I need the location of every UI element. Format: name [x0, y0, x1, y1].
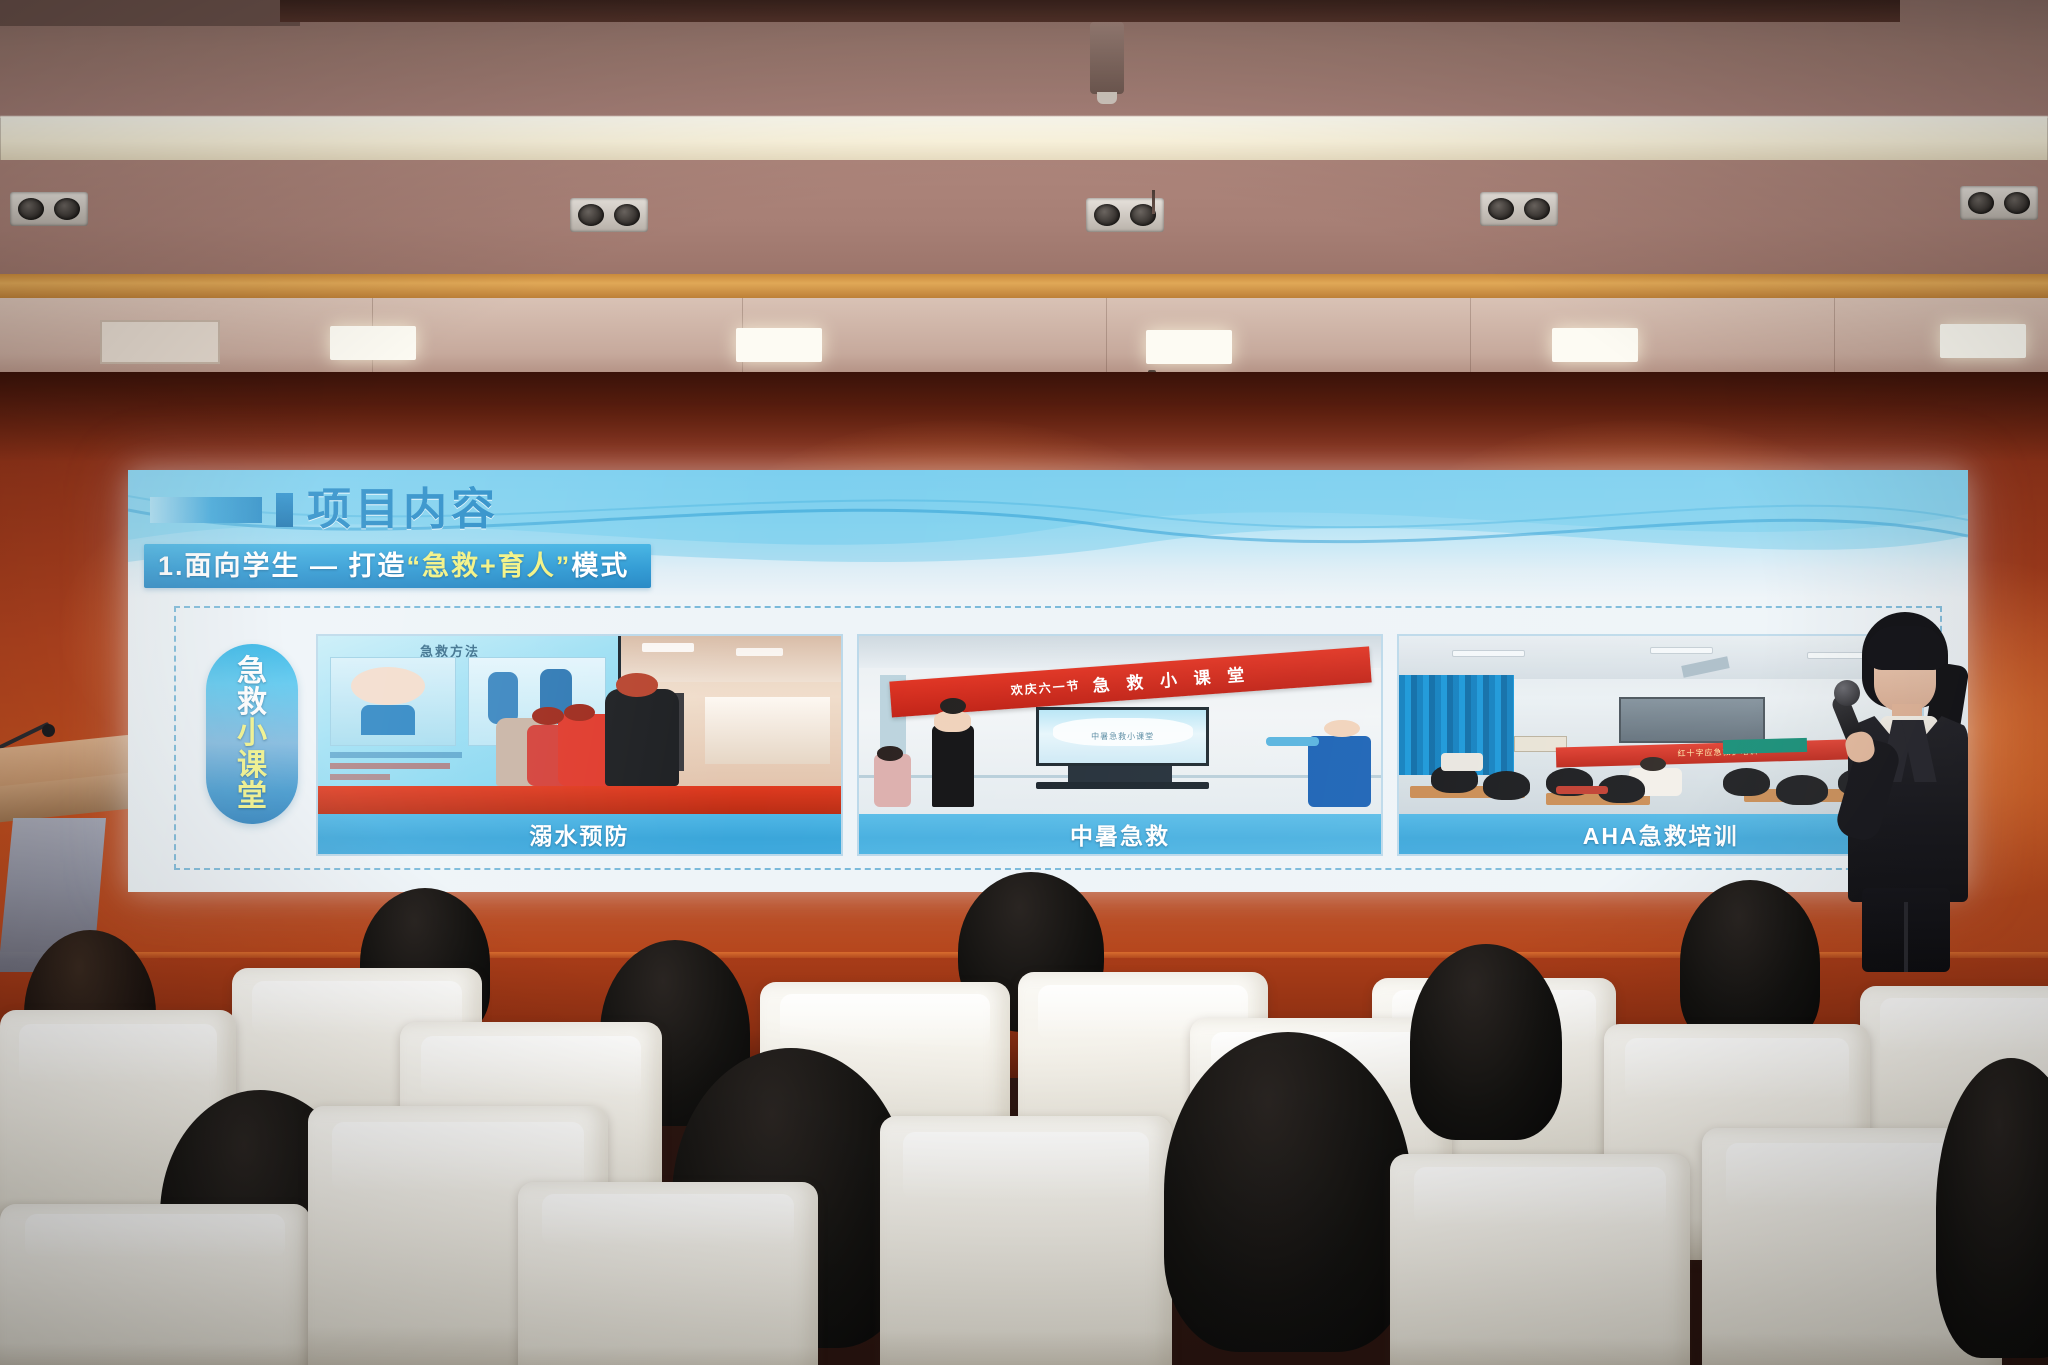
p3-ceiling-light	[1452, 650, 1525, 657]
presenter-leg-gap	[1904, 902, 1908, 972]
p3-green-board	[1723, 738, 1807, 755]
p1-screen-text-line	[330, 774, 390, 780]
audience-head	[1410, 944, 1562, 1140]
p3-student-head	[1723, 768, 1770, 796]
audience-head	[1164, 1032, 1412, 1352]
photo-image-heatstroke-firstaid: 欢庆六一节 急 救 小 课 堂 中暑急救小课堂	[859, 636, 1382, 814]
ceiling-lower-panels	[0, 298, 2048, 378]
ceiling-recessed-band	[280, 0, 1900, 22]
ceiling-cable	[1152, 190, 1155, 214]
p1-ceiling-light	[736, 648, 783, 655]
side-label-char: 救	[237, 687, 267, 718]
slide-title-row: 项目内容	[150, 488, 499, 532]
lecture-hall-scene: 项目内容 1.面向学生 — 打造 “急救+育人” 模式 急 救 小 课 堂	[0, 0, 2048, 1365]
spotlight-icon	[1480, 192, 1558, 226]
photo-caption: 溺水预防	[318, 814, 841, 854]
p3-student-body	[1441, 753, 1483, 771]
ceiling-downlight	[736, 328, 822, 362]
p2-banner-right-text: 急 救 小 课 堂	[1092, 661, 1251, 697]
p2-banner-left-text: 欢庆六一节	[1010, 677, 1081, 699]
side-label-char: 急	[237, 656, 267, 687]
p2-tv-text: 中暑急救小课堂	[1039, 731, 1205, 742]
page-title: 项目内容	[307, 488, 499, 532]
p2-tv-display: 中暑急救小课堂	[1036, 707, 1208, 766]
p1-screen-text-line	[330, 752, 462, 758]
p3-ceiling-light	[1650, 647, 1713, 654]
p3-student-head	[1483, 771, 1530, 799]
p1-red-carpet	[318, 786, 841, 814]
wall-top-shadow	[0, 372, 2048, 462]
p1-illustration-body	[361, 705, 416, 735]
spotlight-icon	[10, 192, 88, 226]
p2-tv-stand	[1068, 766, 1173, 782]
audience-chair	[518, 1182, 818, 1365]
audience-chair	[880, 1116, 1172, 1365]
p2-person-head	[877, 746, 903, 760]
ceiling-middle-surface	[0, 160, 2048, 278]
photo-card: 急救方法	[316, 634, 843, 856]
side-label-char: 小	[237, 718, 267, 749]
cove-light-strip	[0, 116, 2048, 162]
ceiling-panel-seam	[1470, 298, 1471, 378]
p1-screen-text-line	[330, 763, 450, 769]
ceiling-projector-icon	[1090, 22, 1124, 94]
subtitle-part-3: 模式	[571, 553, 629, 580]
ceiling-corner-left	[0, 0, 300, 26]
audience-chair	[0, 1204, 310, 1365]
p2-person-standing	[932, 725, 974, 807]
p1-illustration-figure	[351, 667, 425, 705]
p1-ceiling-light	[642, 643, 694, 652]
side-label-char: 课	[237, 750, 267, 781]
p2-tv-base	[1036, 782, 1208, 789]
p2-person-seated	[874, 754, 911, 807]
p1-child-head	[532, 707, 563, 725]
ceiling-downlight	[330, 326, 416, 360]
ceiling-downlight	[1552, 328, 1638, 362]
p2-equipment	[1266, 737, 1318, 746]
microphone-head-icon	[42, 724, 55, 737]
p1-window	[705, 697, 830, 765]
side-label-char: 堂	[237, 781, 267, 812]
p1-instructor	[605, 689, 678, 785]
ceiling-panel-seam	[1106, 298, 1107, 378]
slide-subtitle-banner: 1.面向学生 — 打造 “急救+育人” 模式	[144, 544, 651, 588]
audience-chair	[1390, 1154, 1690, 1365]
slide-content-frame: 急 救 小 课 堂 急救方法	[174, 606, 1942, 870]
ceiling-air-vent	[100, 320, 220, 364]
ceiling-downlight	[1940, 324, 2026, 358]
projection-screen: 项目内容 1.面向学生 — 打造 “急救+育人” 模式 急 救 小 课 堂	[128, 470, 1968, 892]
p1-instructor-head	[616, 673, 658, 696]
p3-whiteboard	[1619, 697, 1765, 743]
ceiling-downlight	[1146, 330, 1232, 364]
subtitle-part-2: “急救+育人”	[407, 553, 572, 580]
photo-caption: 中暑急救	[859, 814, 1382, 854]
photo-image-drowning-prevention: 急救方法	[318, 636, 841, 814]
ceiling-panel-seam	[1834, 298, 1835, 378]
presenter-hair-front	[1866, 626, 1946, 670]
spotlight-icon	[570, 198, 648, 232]
p1-screen-pane	[330, 657, 456, 746]
photo-gallery: 急救方法	[316, 634, 1924, 856]
audience-head	[1680, 880, 1820, 1046]
p3-desk-item	[1556, 786, 1608, 795]
side-label-pill: 急 救 小 课 堂	[206, 644, 298, 824]
p1-illustration-person	[488, 672, 518, 724]
photo-card: 欢庆六一节 急 救 小 课 堂 中暑急救小课堂	[857, 634, 1384, 856]
spotlight-icon	[1960, 186, 2038, 220]
subtitle-part-1: 1.面向学生 — 打造	[158, 553, 407, 580]
title-accent-bar	[150, 497, 262, 523]
ceiling-gold-rail	[0, 274, 2048, 300]
presenter	[1800, 612, 1990, 972]
p2-person-blue-apron	[1308, 736, 1371, 807]
microphone-head-icon	[1834, 680, 1860, 706]
title-accent-tick	[276, 493, 293, 527]
